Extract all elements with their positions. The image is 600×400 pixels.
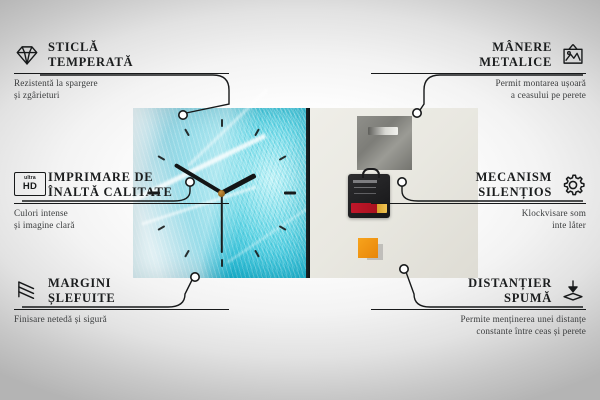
foam-spacer	[358, 238, 378, 258]
callout-title: MARGINI ȘLEFUITE	[48, 276, 115, 306]
callout-header: MECANISM SILENȚIOS	[371, 170, 586, 200]
callout-rule	[14, 309, 229, 310]
callout-sub-line2: inte låter	[371, 220, 586, 232]
metal-hanger-plate	[357, 116, 412, 170]
hanger-slot	[368, 127, 398, 135]
callout-subtitle: Culori intense și imagine clară	[14, 208, 229, 232]
callout-rule	[371, 73, 586, 74]
callout-title-line2: ȘLEFUITE	[48, 291, 115, 306]
callout-sticla-temperata: STICLĂ TEMPERATĂ Rezistentă la spargere …	[14, 40, 229, 102]
ultra-hd-badge-icon: ultra HD	[14, 172, 40, 198]
picture-hanger-icon	[560, 42, 586, 68]
polished-edges-icon	[14, 278, 40, 304]
callout-rule	[14, 203, 229, 204]
infographic-canvas: STICLĂ TEMPERATĂ Rezistentă la spargere …	[0, 0, 600, 400]
callout-title-line1: MARGINI	[48, 276, 115, 291]
callout-sub-line1: Permite menținerea unei distanțe	[371, 314, 586, 326]
callout-imprimare-hd: ultra HD IMPRIMARE DE ÎNALTĂ CALITATE Cu…	[14, 170, 229, 232]
callout-sub-line1: Klockvisare som	[371, 208, 586, 220]
callout-title: DISTANȚIER SPUMĂ	[468, 276, 552, 306]
callout-subtitle: Finisare netedă și sigură	[14, 314, 229, 326]
callout-header: MÂNERE METALICE	[371, 40, 586, 70]
callout-sub-line1: Culori intense	[14, 208, 229, 220]
callout-title-line1: MECANISM	[476, 170, 552, 185]
callout-title-line1: DISTANȚIER	[468, 276, 552, 291]
callout-header: ultra HD IMPRIMARE DE ÎNALTĂ CALITATE	[14, 170, 229, 200]
callout-subtitle: Rezistentă la spargere și zgârieturi	[14, 78, 229, 102]
callout-mecanism-silentios: MECANISM SILENȚIOS Klockvisare som inte …	[371, 170, 586, 232]
callout-header: DISTANȚIER SPUMĂ	[371, 276, 586, 306]
callout-title-line2: SPUMĂ	[468, 291, 552, 306]
hd-badge-large: HD	[23, 182, 37, 192]
callout-title: MECANISM SILENȚIOS	[476, 170, 552, 200]
callout-title-line1: IMPRIMARE DE	[48, 170, 173, 185]
callout-sub-line2: și imagine clară	[14, 220, 229, 232]
gear-icon	[560, 172, 586, 198]
callout-sub-line2: constante între ceas și perete	[371, 326, 586, 338]
callout-rule	[14, 73, 229, 74]
callout-title: STICLĂ TEMPERATĂ	[48, 40, 133, 70]
callout-title-line1: MÂNERE	[479, 40, 552, 55]
callout-sub-line2: a ceasului pe perete	[371, 90, 586, 102]
diamond-icon	[14, 42, 40, 68]
callout-header: STICLĂ TEMPERATĂ	[14, 40, 229, 70]
callout-title-line2: SILENȚIOS	[476, 185, 552, 200]
callout-manere-metalice: MÂNERE METALICE Permit montarea ușoară a…	[371, 40, 586, 102]
callout-rule	[371, 203, 586, 204]
callout-title: MÂNERE METALICE	[479, 40, 552, 70]
callout-header: MARGINI ȘLEFUITE	[14, 276, 229, 306]
callout-subtitle: Klockvisare som inte låter	[371, 208, 586, 232]
foam-spacer-arrow-icon	[560, 278, 586, 304]
callout-title-line1: STICLĂ	[48, 40, 133, 55]
callout-title-line2: METALICE	[479, 55, 552, 70]
callout-subtitle: Permit montarea ușoară a ceasului pe per…	[371, 78, 586, 102]
callout-subtitle: Permite menținerea unei distanțe constan…	[371, 314, 586, 338]
callout-title-line2: ÎNALTĂ CALITATE	[48, 185, 173, 200]
callout-sub-line1: Permit montarea ușoară	[371, 78, 586, 90]
callout-margini-slefuite: MARGINI ȘLEFUITE Finisare netedă și sigu…	[14, 276, 229, 326]
callout-distantier-spuma: DISTANȚIER SPUMĂ Permite menținerea unei…	[371, 276, 586, 338]
callout-title: IMPRIMARE DE ÎNALTĂ CALITATE	[48, 170, 173, 200]
callout-sub-line1: Rezistentă la spargere	[14, 78, 229, 90]
callout-sub-line2: și zgârieturi	[14, 90, 229, 102]
callout-title-line2: TEMPERATĂ	[48, 55, 133, 70]
callout-rule	[371, 309, 586, 310]
callout-sub-line1: Finisare netedă și sigură	[14, 314, 229, 326]
